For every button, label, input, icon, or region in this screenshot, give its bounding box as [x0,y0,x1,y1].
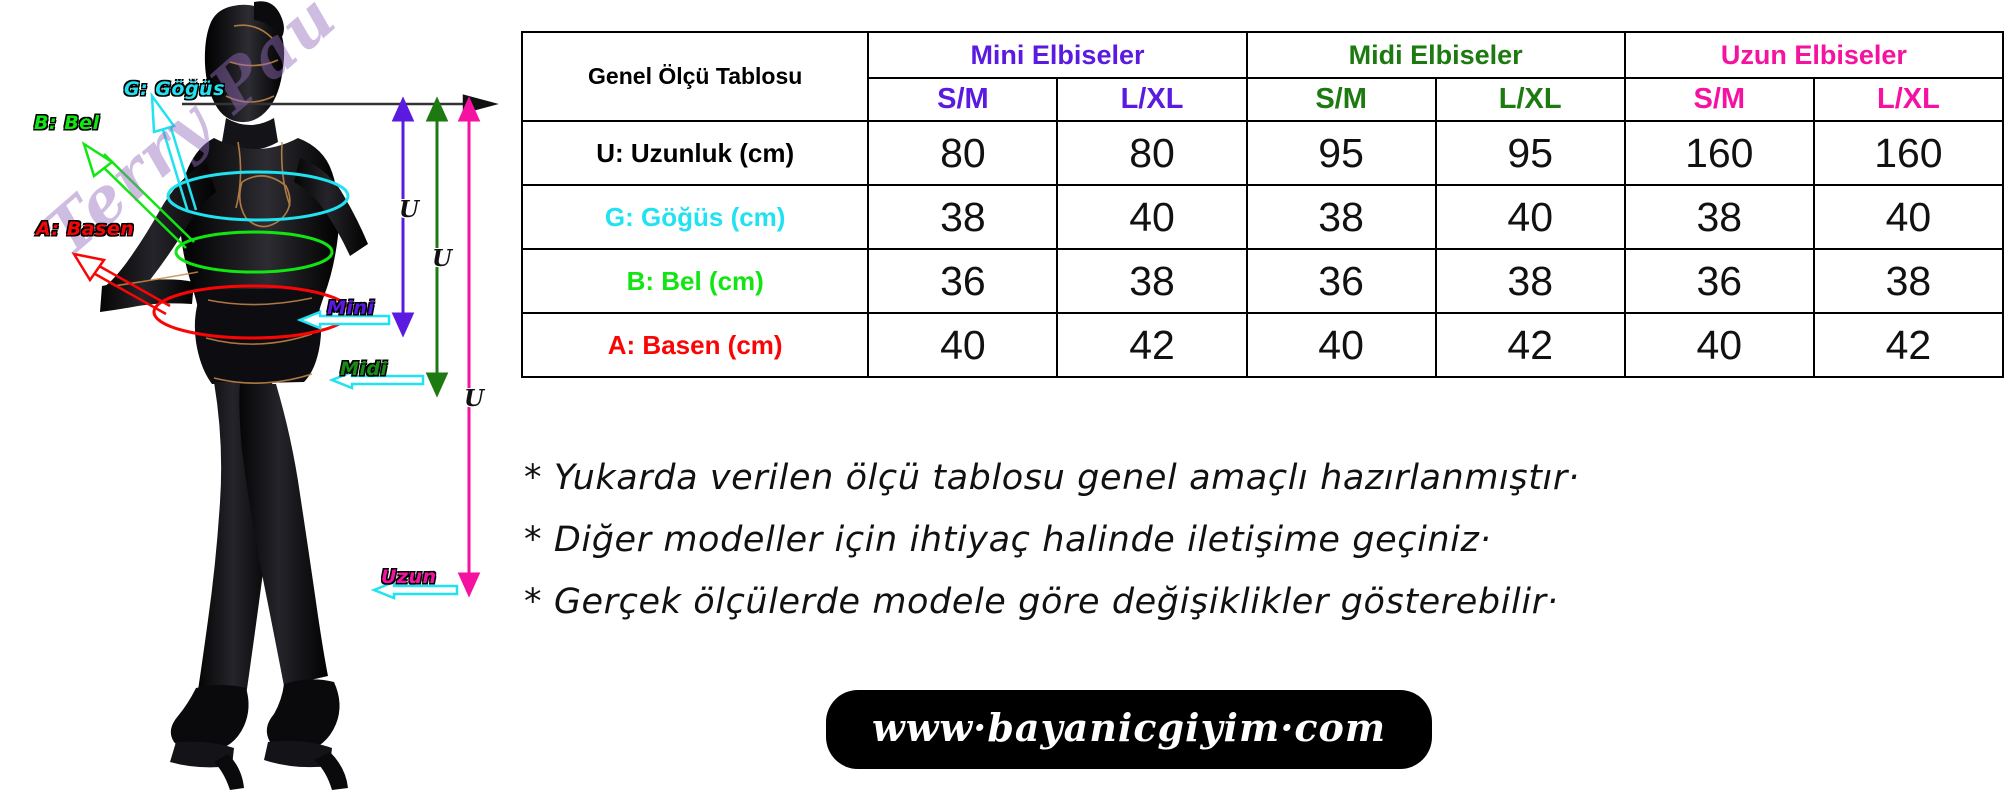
cell-gogus-midi-lxl: 40 [1436,185,1625,249]
cell-uzunluk-mini-sm: 80 [868,121,1057,185]
row-label-basen: A: Basen (cm) [522,313,868,377]
cell-gogus-mini-sm: 38 [868,185,1057,249]
table-row: G: Göğüs (cm) 38 40 38 40 38 40 [522,185,2003,249]
row-label-uzunluk: U: Uzunluk (cm) [522,121,868,185]
cell-gogus-midi-sm: 38 [1247,185,1436,249]
measurements-panel: Genel Ölçü Tablosu Mini Elbiseler Midi E… [510,0,2010,811]
model-figure-panel: Terry Pau G: Göğüs B: Bel A: Basen Mini … [0,0,510,811]
size-chart-table: Genel Ölçü Tablosu Mini Elbiseler Midi E… [521,31,2004,378]
note-line-3: * Gerçek ölçülerde modele göre değişikli… [524,582,1558,622]
table-corner-label: Genel Ölçü Tablosu [522,32,868,121]
length-glyph-mini: U [399,196,419,223]
figure-label-gogus: G: Göğüs [124,78,225,100]
website-badge[interactable]: www·bayanicgiyim·com [832,696,1426,763]
note-line-2: * Diğer modeller için ihtiyaç halinde il… [524,520,1491,560]
figure-label-midi: Midi [340,358,388,380]
cell-uzunluk-uzun-lxl: 160 [1814,121,2003,185]
cell-gogus-mini-lxl: 40 [1057,185,1246,249]
row-label-bel: B: Bel (cm) [522,249,868,313]
group-header-midi: Midi Elbiseler [1247,32,1625,78]
table-row: A: Basen (cm) 40 42 40 42 40 42 [522,313,2003,377]
cell-basen-uzun-lxl: 42 [1814,313,2003,377]
figure-label-uzun: Uzun [381,566,437,588]
cell-uzunluk-midi-sm: 95 [1247,121,1436,185]
table-group-header-row: Genel Ölçü Tablosu Mini Elbiseler Midi E… [522,32,2003,78]
cell-gogus-uzun-sm: 38 [1625,185,1814,249]
figure-label-basen: A: Basen [36,218,134,240]
cell-gogus-uzun-lxl: 40 [1814,185,2003,249]
cell-bel-mini-sm: 36 [868,249,1057,313]
cell-basen-uzun-sm: 40 [1625,313,1814,377]
length-glyph-midi: U [432,245,452,272]
size-header-midi-lxl: L/XL [1436,78,1625,121]
model-silhouette [100,1,368,790]
cell-basen-mini-lxl: 42 [1057,313,1246,377]
cell-uzunluk-mini-lxl: 80 [1057,121,1246,185]
figure-label-bel: B: Bel [34,112,100,134]
length-glyph-uzun: U [464,385,484,412]
cell-bel-uzun-sm: 36 [1625,249,1814,313]
cell-bel-midi-sm: 36 [1247,249,1436,313]
cell-uzunluk-uzun-sm: 160 [1625,121,1814,185]
table-row: B: Bel (cm) 36 38 36 38 36 38 [522,249,2003,313]
cell-basen-mini-sm: 40 [868,313,1057,377]
group-header-mini: Mini Elbiseler [868,32,1246,78]
size-chart-image: Terry Pau G: Göğüs B: Bel A: Basen Mini … [0,0,2010,811]
row-label-gogus: G: Göğüs (cm) [522,185,868,249]
size-header-midi-sm: S/M [1247,78,1436,121]
cell-bel-uzun-lxl: 38 [1814,249,2003,313]
cell-bel-midi-lxl: 38 [1436,249,1625,313]
size-header-mini-lxl: L/XL [1057,78,1246,121]
group-header-uzun: Uzun Elbiseler [1625,32,2003,78]
figure-label-mini: Mini [327,297,374,319]
cell-bel-mini-lxl: 38 [1057,249,1246,313]
size-header-uzun-sm: S/M [1625,78,1814,121]
size-header-mini-sm: S/M [868,78,1057,121]
cell-uzunluk-midi-lxl: 95 [1436,121,1625,185]
uzun-length-arrow [460,100,478,594]
cell-basen-midi-lxl: 42 [1436,313,1625,377]
cell-basen-midi-sm: 40 [1247,313,1436,377]
note-line-1: * Yukarda verilen ölçü tablosu genel ama… [524,458,1580,498]
size-header-uzun-lxl: L/XL [1814,78,2003,121]
table-row: U: Uzunluk (cm) 80 80 95 95 160 160 [522,121,2003,185]
